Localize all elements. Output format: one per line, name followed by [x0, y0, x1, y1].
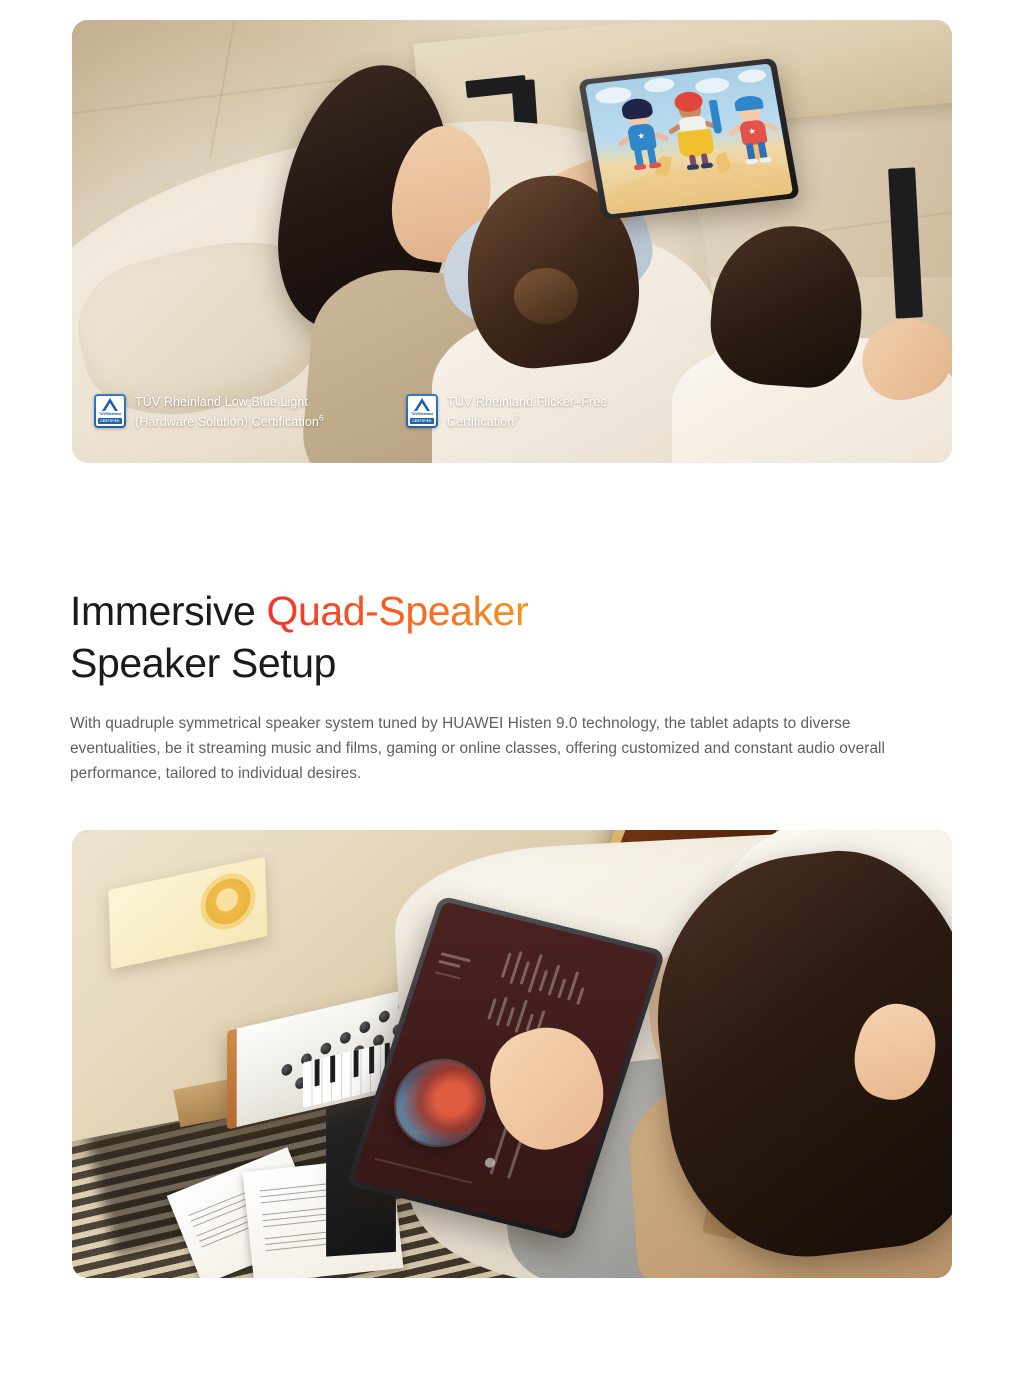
certification-list: TÜVRheinland CERTIFIED TÜV Rheinland Low… — [94, 394, 662, 431]
footnote-marker: 7 — [514, 413, 519, 423]
headline-accent: Quad-Speaker — [266, 588, 528, 634]
certification-item: TÜVRheinland CERTIFIED TÜV Rheinland Low… — [94, 394, 350, 431]
certification-caption: TÜV Rheinland Flicker–Free Certification… — [447, 394, 662, 431]
lifestyle-scene-background — [72, 830, 952, 1278]
keyboard-wood-trim — [227, 1029, 237, 1130]
certification-caption-text: TÜV Rheinland Flicker–Free Certification — [447, 395, 607, 430]
tuv-rheinland-badge-icon: TÜVRheinland CERTIFIED — [406, 394, 438, 428]
album-artwork — [385, 1052, 495, 1155]
section-copy: Immersive Quad-Speaker Speaker Setup Wit… — [70, 585, 950, 786]
section-headline: Immersive Quad-Speaker Speaker Setup — [70, 585, 950, 689]
cloud-shape — [643, 77, 675, 94]
cloud-shape — [737, 68, 767, 84]
certification-caption-text: TÜV Rheinland Low Blue Light (Hardware S… — [135, 395, 319, 430]
tuv-certified-bar: CERTIFIED — [98, 418, 122, 424]
tuv-triangle-glyph — [414, 398, 430, 411]
headline-lead: Immersive — [70, 588, 266, 634]
tuv-brand-text: TÜVRheinland — [99, 412, 121, 417]
progress-bar — [374, 1158, 472, 1184]
tablet-device — [578, 58, 800, 220]
tuv-rheinland-badge-icon: TÜVRheinland CERTIFIED — [94, 394, 126, 428]
product-page: TÜVRheinland CERTIFIED TÜV Rheinland Low… — [0, 0, 1024, 1373]
footnote-marker: 6 — [319, 413, 324, 423]
tuv-triangle-glyph — [102, 398, 118, 411]
headline-line-two: Speaker Setup — [70, 640, 336, 686]
lion-illustration — [205, 874, 252, 928]
tuv-certified-bar: CERTIFIED — [410, 418, 434, 424]
hero-image: TÜVRheinland CERTIFIED TÜV Rheinland Low… — [72, 20, 952, 463]
section-body-text: With quadruple symmetrical speaker syste… — [70, 711, 900, 786]
certification-item: TÜVRheinland CERTIFIED TÜV Rheinland Fli… — [406, 394, 662, 431]
cloud-shape — [694, 76, 730, 95]
lifestyle-image — [72, 830, 952, 1278]
child-one-hair-bun — [514, 268, 578, 324]
certification-caption: TÜV Rheinland Low Blue Light (Hardware S… — [135, 394, 350, 431]
tablet-screen — [585, 63, 793, 214]
tuv-brand-text: TÜVRheinland — [411, 412, 433, 417]
